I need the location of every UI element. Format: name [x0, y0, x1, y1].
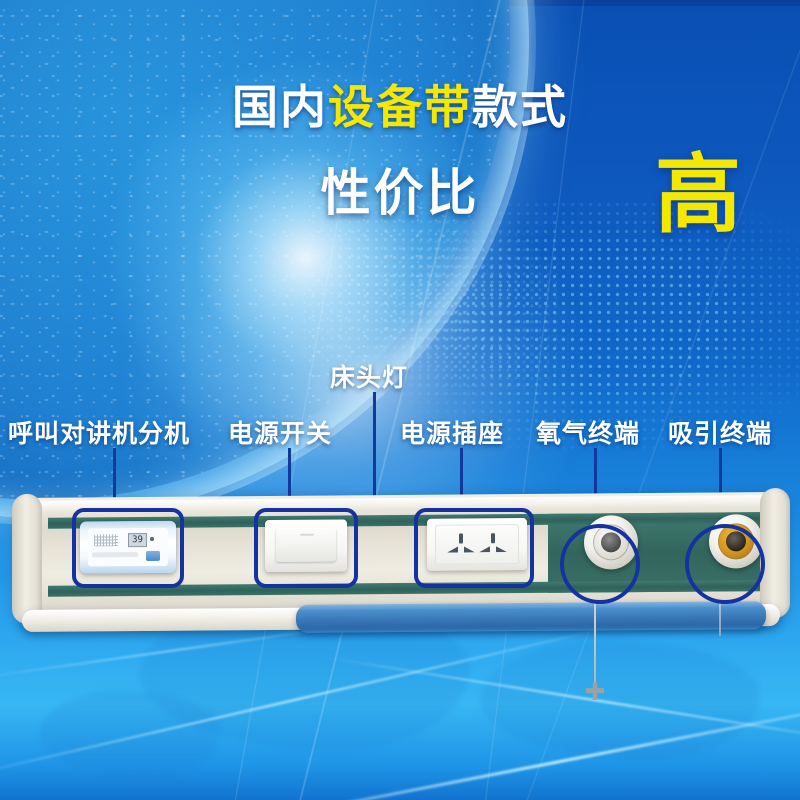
- callout-label-suction-terminal: 吸引终端: [668, 414, 772, 450]
- panel-end-cap-right: [760, 488, 790, 618]
- headline-part-3: 款式: [472, 81, 568, 133]
- pull-cord-secondary: [719, 600, 721, 636]
- highlight-circle-suction: [685, 524, 765, 604]
- callout-label-power-switch: 电源开关: [228, 414, 332, 450]
- callout-label-oxygen-terminal: 氧气终端: [536, 414, 640, 450]
- panel-blue-rail-section: [296, 601, 766, 633]
- highlight-box-power-socket: [414, 508, 534, 588]
- callout-label-bed-lamp: 床头灯: [330, 358, 408, 394]
- highlight-box-power-switch: [254, 508, 358, 588]
- callout-label-intercom: 呼叫对讲机分机: [8, 414, 190, 450]
- headline-part-2-highlight: 设备带: [328, 81, 472, 133]
- promo-image: 国内设备带款式 性价比 高 呼叫对讲机分机 电源开关 床头灯 电源插座 氧气终端…: [0, 0, 800, 800]
- highlight-circle-oxygen: [560, 524, 640, 604]
- headline: 国内设备带款式: [0, 84, 800, 130]
- highlight-box-intercom: [72, 508, 184, 588]
- headline-part-1: 国内: [232, 81, 328, 133]
- pull-cord[interactable]: [594, 600, 596, 690]
- big-accent-character: 高: [655, 152, 741, 238]
- panel-end-cap-left: [12, 494, 42, 624]
- callout-label-power-socket: 电源插座: [400, 414, 504, 450]
